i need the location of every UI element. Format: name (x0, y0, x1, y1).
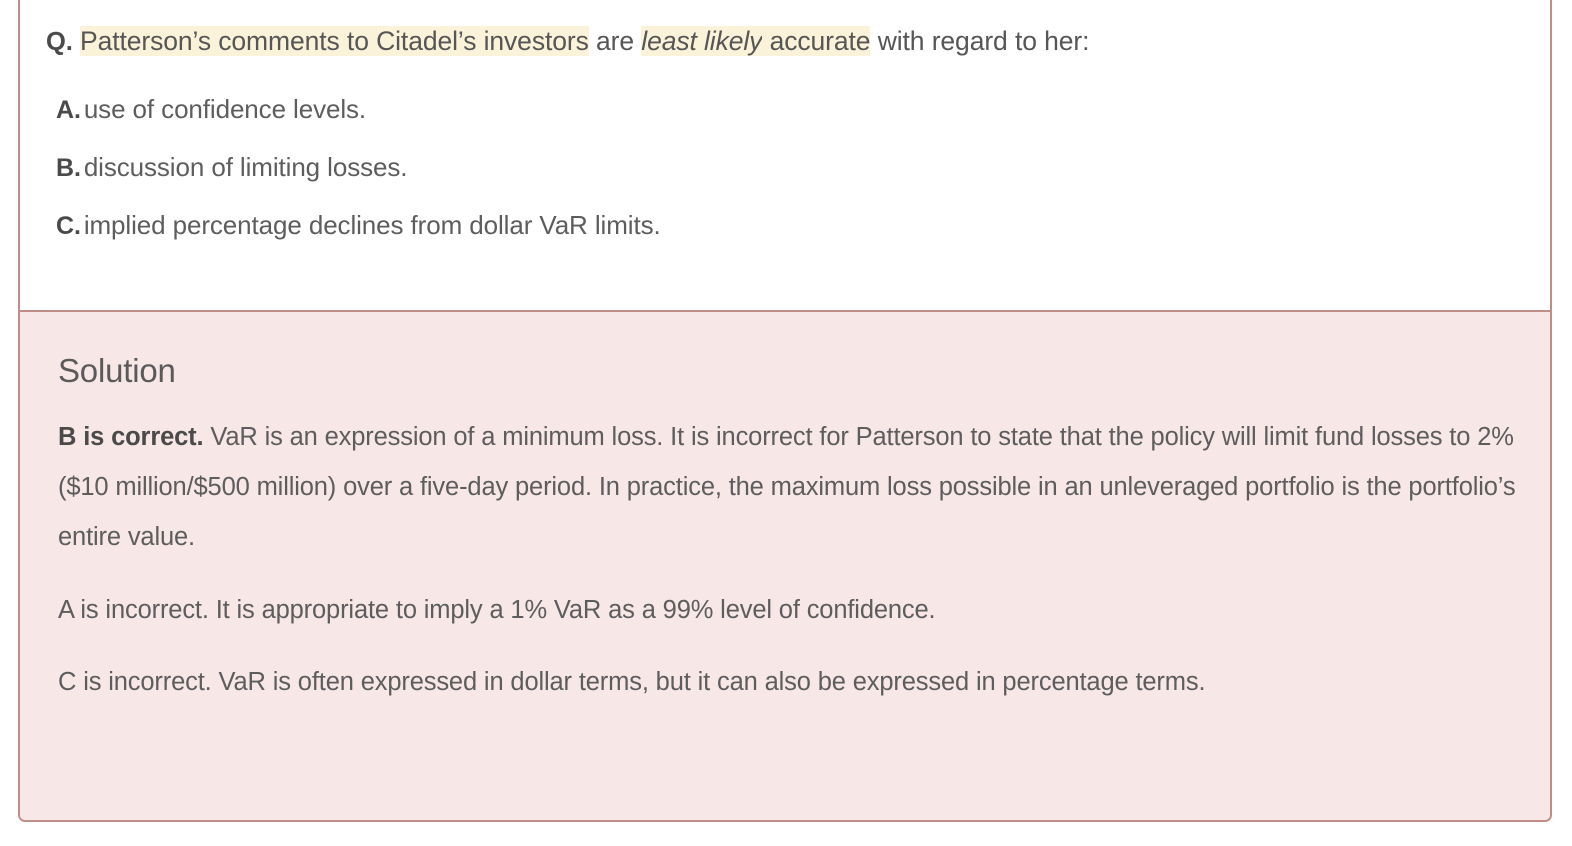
answer-choice-b-letter: B. (56, 154, 81, 182)
answer-choice-b[interactable]: B.discussion of limiting losses. (56, 151, 1524, 185)
answer-choice-a-text: use of confidence levels. (84, 94, 366, 124)
question-segment-3: accurate (762, 26, 870, 56)
answer-choice-a-letter: A. (56, 96, 81, 124)
question-label: Q. (46, 28, 73, 56)
question-segment-0: Patterson’s comments to Citadel’s invest… (80, 26, 589, 56)
solution-paragraph-c: C is incorrect. VaR is often expressed i… (58, 657, 1524, 707)
answer-choice-a[interactable]: A.use of confidence levels. (56, 93, 1524, 127)
answer-choice-c-text: implied percentage declines from dollar … (84, 210, 661, 240)
solution-heading: Solution (58, 352, 1524, 390)
answer-choice-list: A.use of confidence levels. B.discussion… (46, 93, 1524, 242)
solution-paragraph-b: B is correct. VaR is an expression of a … (58, 412, 1524, 563)
solution-paragraph-b-lead: B is correct. (58, 423, 203, 451)
question-segment-4: with regard to her: (870, 26, 1089, 56)
question-segment-1: are (589, 26, 642, 56)
solution-panel: Solution B is correct. VaR is an express… (20, 310, 1550, 820)
answer-choice-b-text: discussion of limiting losses. (84, 152, 408, 182)
question-answer-card: Q. Patterson’s comments to Citadel’s inv… (18, 0, 1552, 822)
solution-paragraph-b-body: VaR is an expression of a minimum loss. … (58, 423, 1515, 551)
question-panel: Q. Patterson’s comments to Citadel’s inv… (20, 0, 1550, 310)
solution-paragraph-c-body: C is incorrect. VaR is often expressed i… (58, 668, 1205, 696)
question-stem: Q. Patterson’s comments to Citadel’s inv… (46, 24, 1524, 59)
question-segment-2: least likely (641, 26, 762, 56)
answer-choice-c[interactable]: C.implied percentage declines from dolla… (56, 209, 1524, 243)
solution-paragraph-a: A is incorrect. It is appropriate to imp… (58, 585, 1524, 635)
answer-choice-c-letter: C. (56, 212, 81, 240)
solution-paragraph-a-body: A is incorrect. It is appropriate to imp… (58, 596, 936, 624)
